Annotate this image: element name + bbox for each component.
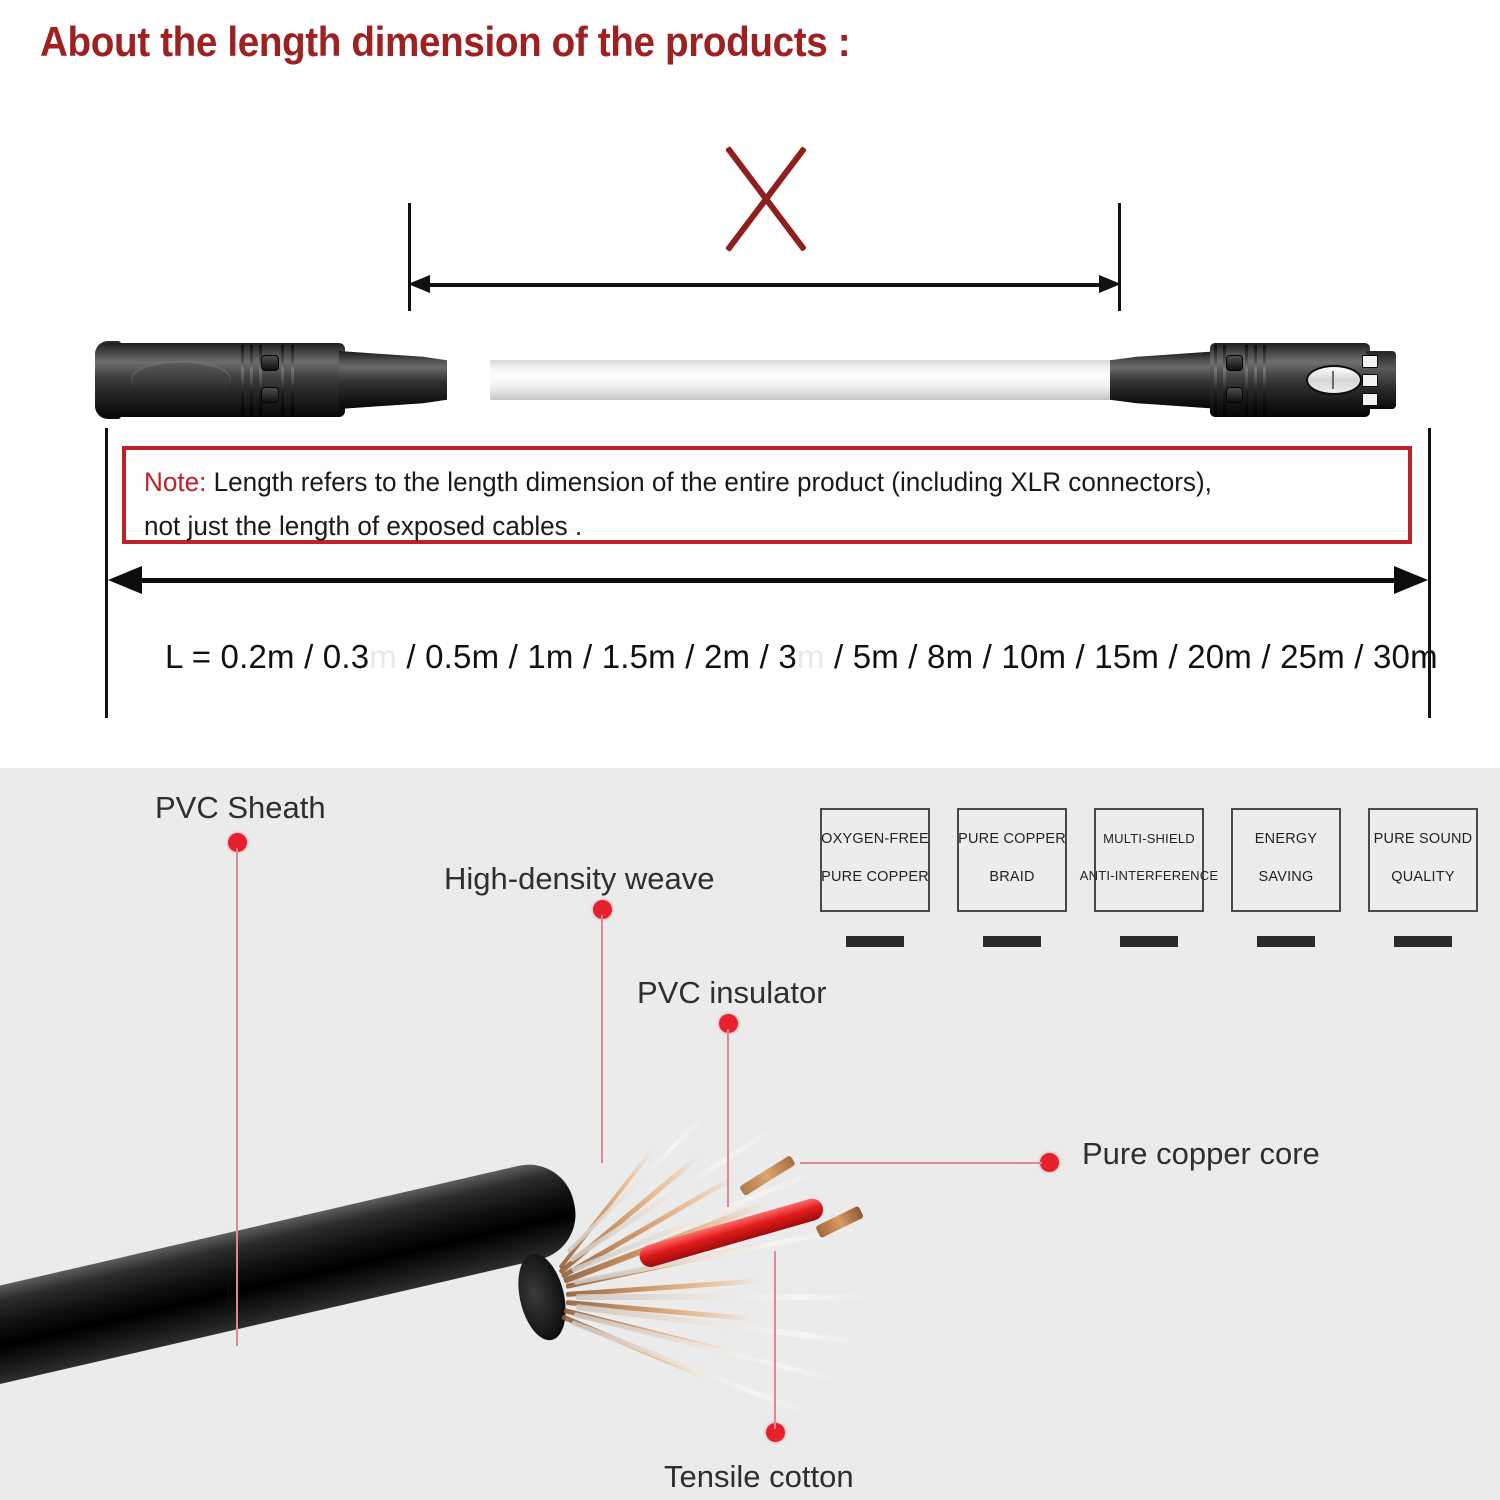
connector-rib [1263,345,1266,415]
connector-rib [250,345,253,415]
length-dimension-panel: About the length dimension of the produc… [0,0,1500,768]
callout-leader-pvc-sheath [236,848,238,1346]
callout-leader-tensile-cotton [774,1251,776,1429]
badge-line-1: OXYGEN-FREE [821,831,929,847]
page-title: About the length dimension of the produc… [40,18,850,66]
badge-line-1: PURE COPPER [958,831,1066,847]
connector-rib [1254,345,1257,415]
dimension-arrow-total-length [108,564,1428,598]
length-list-middle: / 0.5m / 1m / 1.5m / 2m / 3 [397,638,797,675]
badge-underline-bar [846,936,904,947]
callout-label-tensile-cotton: Tensile cotton [664,1459,854,1495]
length-faded-unit-2: m [797,638,825,675]
callout-label-pure-copper-core: Pure copper core [1082,1136,1320,1172]
connector-rib [1245,345,1248,415]
callout-label-pvc-sheath: PVC Sheath [155,790,326,826]
connector-clip [261,355,279,371]
callout-leader-high-density-weave [601,915,603,1163]
badge-line-2: SAVING [1259,869,1314,885]
note-line-1: Note: Length refers to the length dimens… [144,460,1371,504]
callout-label-high-density-weave: High-density weave [444,861,715,897]
badge-line-2: BRAID [989,869,1034,885]
xlr-female-connector [1110,325,1410,435]
connector-clip [1226,387,1243,403]
arrowhead-right-icon [1394,566,1428,594]
feature-badge-pure-sound-quality: PURE SOUND QUALITY [1368,808,1478,912]
badge-underline-bar [983,936,1041,947]
connector-clip [1226,355,1243,371]
dimension-arrow-exposed-cable [408,272,1121,298]
length-faded-unit-1: m [369,638,397,675]
feature-badge-oxygen-free-pure-copper: OXYGEN-FREE PURE COPPER [820,808,930,912]
badge-line-1: ENERGY [1255,831,1317,847]
length-list-suffix: / 5m / 8m / 10m / 15m / 20m / 25m / 30m [825,638,1438,675]
badge-line-2: QUALITY [1391,869,1454,885]
arrow-shaft [134,578,1402,583]
connector-strain-relief [339,351,447,409]
connector-pin [1362,374,1378,387]
connector-highlight [131,361,231,397]
badge-underline-bar [1394,936,1452,947]
badge-underline-bar [1257,936,1315,947]
length-list-prefix: L = 0.2m / 0.3 [165,638,369,675]
note-line-2: not just the length of exposed cables . [144,504,1371,548]
callout-leader-pure-copper-core [800,1162,1042,1164]
arrowhead-right-icon [1099,275,1121,293]
callout-dot-pure-copper-core [1040,1153,1059,1172]
connector-strain-relief [1110,351,1220,409]
callout-leader-pvc-insulator [727,1029,729,1207]
callout-label-pvc-insulator: PVC insulator [637,975,827,1011]
connector-rib [1214,345,1217,415]
feature-badge-row: OXYGEN-FREE PURE COPPER PURE COPPER BRAI… [820,808,1480,978]
connector-pin [1362,355,1378,368]
connector-clip [261,387,279,403]
feature-badge-multi-shield-anti-interference: MULTI-SHIELD ANTI-INTERFERENCE [1094,808,1204,912]
cable-construction-panel: PVC Sheath High-density weave PVC insula… [0,768,1500,1500]
length-options-list: L = 0.2m / 0.3m / 0.5m / 1m / 1.5m / 2m … [165,638,1438,676]
cotton-strand [576,1294,876,1300]
note-box: Note: Length refers to the length dimens… [122,446,1412,544]
badge-line-1: PURE SOUND [1374,831,1473,847]
note-label: Note: [144,467,206,497]
product-infographic: About the length dimension of the produc… [0,0,1500,1500]
connector-rib [1223,345,1226,415]
badge-line-1: MULTI-SHIELD [1103,831,1195,846]
feature-badge-energy-saving: ENERGY SAVING [1231,808,1341,912]
badge-underline-bar [1120,936,1178,947]
connector-rib [281,345,284,415]
xlr-male-connector [95,325,415,435]
connector-pin [1362,393,1378,406]
connector-rib [241,345,244,415]
connector-rib [291,345,294,415]
connector-latch-detail [1332,371,1334,389]
feature-badge-pure-copper-braid: PURE COPPER BRAID [957,808,1067,912]
connector-latch-button [1306,365,1362,395]
note-line-1-text: Length refers to the length dimension of… [206,467,1212,497]
badge-line-2: PURE COPPER [821,869,929,885]
arrow-shaft [424,283,1105,287]
cable-outer-sheath [0,1156,585,1391]
incorrect-x-icon [718,150,814,248]
xlr-cable-assembly [95,325,1410,435]
badge-line-2: ANTI-INTERFERENCE [1080,868,1218,883]
